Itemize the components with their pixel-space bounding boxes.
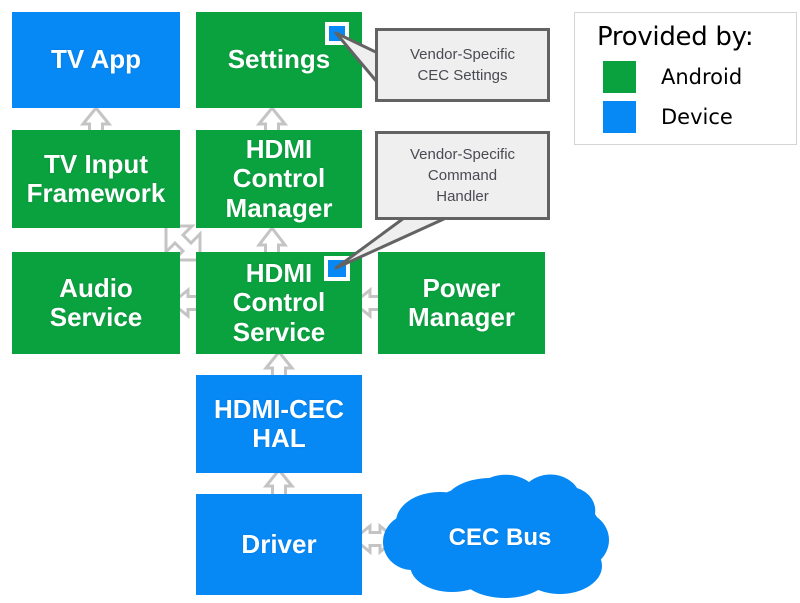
command-handler-callout: Vendor-SpecificCommandHandler xyxy=(375,131,550,220)
node-hdmi-cec-hal[interactable]: HDMI-CECHAL xyxy=(196,375,362,473)
node-hdmi-control-manager[interactable]: HDMIControlManager xyxy=(196,130,362,228)
cec-settings-callout-text: Vendor-SpecificCEC Settings xyxy=(410,44,515,87)
node-hdmi-control-service-label: HDMIControlService xyxy=(227,259,332,346)
legend-swatch-android xyxy=(603,61,636,93)
node-audio-service-label: AudioService xyxy=(44,274,149,332)
node-hdmi-cec-hal-label: HDMI-CECHAL xyxy=(208,395,350,453)
legend: Provided by: Android Device xyxy=(574,12,797,145)
node-hdmi-control-manager-label: HDMIControlManager xyxy=(220,135,339,222)
legend-swatch-device xyxy=(603,101,636,133)
node-power-manager-label: PowerManager xyxy=(402,274,521,332)
hdmi-control-service-vendor-marker-icon[interactable] xyxy=(324,256,350,281)
settings-vendor-marker-icon[interactable] xyxy=(325,22,349,45)
node-audio-service[interactable]: AudioService xyxy=(12,252,180,354)
cec-bus-label: CEC Bus xyxy=(435,524,565,552)
legend-label-android: Android xyxy=(661,65,742,89)
node-tv-input-framework[interactable]: TV InputFramework xyxy=(12,130,180,228)
diagram-canvas: CEC Bus TV App Setti xyxy=(0,0,800,603)
node-tv-input-framework-label: TV InputFramework xyxy=(21,150,172,208)
node-driver[interactable]: Driver xyxy=(196,494,362,595)
node-tv-app-label: TV App xyxy=(45,45,147,74)
legend-item-android: Android xyxy=(603,61,742,93)
node-settings-label: Settings xyxy=(222,45,337,74)
legend-label-device: Device xyxy=(661,105,733,129)
node-driver-label: Driver xyxy=(235,530,322,559)
node-power-manager[interactable]: PowerManager xyxy=(378,252,545,354)
node-tv-app[interactable]: TV App xyxy=(12,12,180,108)
legend-title: Provided by: xyxy=(597,22,753,52)
cec-settings-callout: Vendor-SpecificCEC Settings xyxy=(375,28,550,102)
command-handler-callout-text: Vendor-SpecificCommandHandler xyxy=(410,144,515,208)
legend-item-device: Device xyxy=(603,101,733,133)
